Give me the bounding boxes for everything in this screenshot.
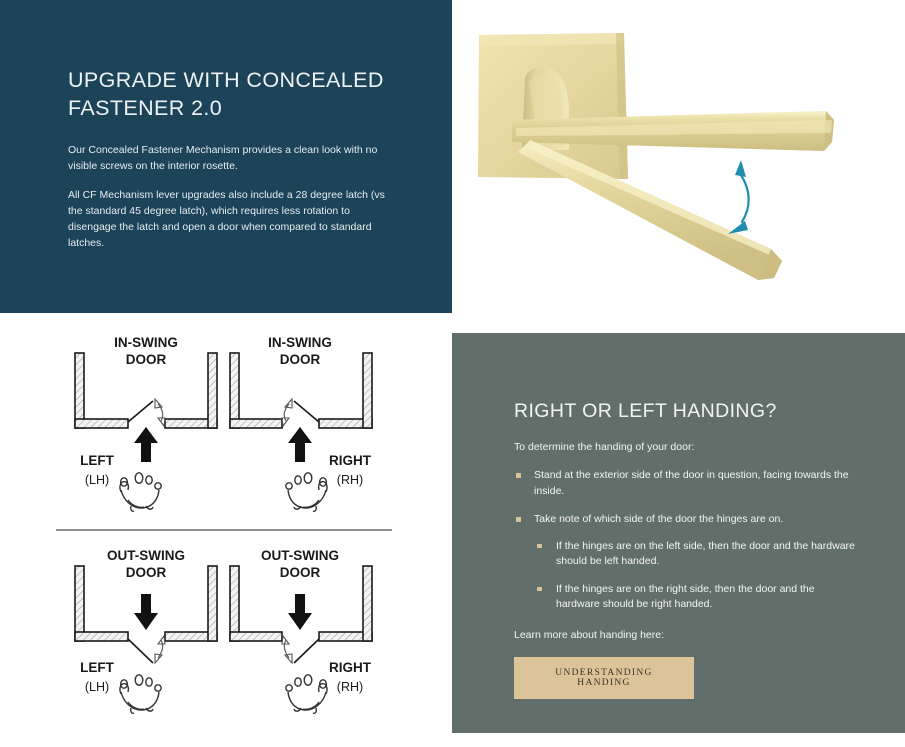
learn-more-text: Learn more about handing here:	[514, 628, 859, 643]
outswing-right-label: RIGHT	[329, 660, 372, 675]
list-item: If the hinges are on the left side, then…	[534, 539, 859, 570]
page-root: UPGRADE WITH CONCEALED FASTENER 2.0 Our …	[0, 0, 905, 747]
bullet-square-icon	[516, 473, 521, 478]
outswing-heading-right-1: OUT-SWING	[261, 548, 339, 563]
bullet-square-icon	[516, 517, 521, 522]
inswing-right-label: RIGHT	[329, 453, 372, 468]
angle-arrow-head-up	[735, 160, 746, 177]
approach-arrow-down-icon	[288, 594, 312, 630]
promo-paragraph-1: Our Concealed Fastener Mechanism provide…	[68, 142, 388, 174]
right-hand-icon	[286, 675, 327, 713]
promo-panel: UPGRADE WITH CONCEALED FASTENER 2.0 Our …	[0, 0, 452, 313]
promo-title: UPGRADE WITH CONCEALED FASTENER 2.0	[68, 66, 388, 122]
bullet-square-icon	[537, 587, 542, 592]
diagram-inswing-right: RIGHT (RH)	[230, 353, 372, 511]
handing-bullet-list: Stand at the exterior side of the door i…	[514, 468, 859, 613]
handing-diagram: LEFT (LH)	[0, 320, 452, 747]
promo-paragraph-2: All CF Mechanism lever upgrades also inc…	[68, 187, 388, 251]
approach-arrow-up-icon	[288, 427, 312, 462]
handing-title: RIGHT OR LEFT HANDING?	[514, 398, 859, 424]
handing-sub-bullet-1-text: If the hinges are on the left side, then…	[556, 539, 859, 570]
outswing-heading-right-2: DOOR	[280, 565, 321, 580]
bullet-square-icon	[537, 544, 542, 549]
diagram-inswing-left: LEFT (LH)	[75, 353, 217, 511]
handing-sub-bullet-list: If the hinges are on the left side, then…	[534, 539, 859, 613]
understanding-handing-button[interactable]: Understanding Handing	[514, 657, 694, 699]
inswing-heading-right-2: DOOR	[280, 352, 321, 367]
angle-arrow-icon	[741, 175, 749, 222]
promo-content: UPGRADE WITH CONCEALED FASTENER 2.0 Our …	[68, 66, 388, 251]
outswing-heading-left-2: DOOR	[126, 565, 167, 580]
handing-lead: To determine the handing of your door:	[514, 440, 859, 455]
inswing-right-sub: (RH)	[337, 473, 363, 487]
approach-arrow-down-icon	[134, 594, 158, 630]
promo-body: Our Concealed Fastener Mechanism provide…	[68, 142, 388, 251]
list-item: Take note of which side of the door the …	[514, 512, 859, 613]
left-hand-icon	[120, 473, 161, 511]
outswing-left-sub: (LH)	[85, 680, 109, 694]
list-item: If the hinges are on the right side, the…	[534, 582, 859, 613]
inswing-heading-right-1: IN-SWING	[268, 335, 332, 350]
inswing-heading-left-1: IN-SWING	[114, 335, 178, 350]
list-item: Stand at the exterior side of the door i…	[514, 468, 859, 499]
outswing-left-label: LEFT	[80, 660, 114, 675]
diagram-outswing-left: LEFT (LH)	[75, 566, 217, 713]
inswing-left-sub: (LH)	[85, 473, 109, 487]
inswing-heading-left-2: DOOR	[126, 352, 167, 367]
outswing-right-sub: (RH)	[337, 680, 363, 694]
left-hand-icon	[120, 675, 161, 713]
inswing-left-label: LEFT	[80, 453, 114, 468]
diagram-outswing-right: RIGHT (RH)	[230, 566, 372, 713]
handing-content: RIGHT OR LEFT HANDING? To determine the …	[514, 398, 859, 699]
approach-arrow-up-icon	[134, 427, 158, 462]
handing-sub-bullet-2-text: If the hinges are on the right side, the…	[556, 582, 859, 613]
handing-diagram-panel: LEFT (LH)	[0, 320, 452, 747]
handing-info-panel: RIGHT OR LEFT HANDING? To determine the …	[452, 333, 905, 733]
angle-arrow-head-down	[728, 221, 748, 234]
outswing-heading-left-1: OUT-SWING	[107, 548, 185, 563]
door-lever-illustration	[452, 0, 905, 313]
right-hand-icon	[286, 473, 327, 511]
handing-bullet-2-text: Take note of which side of the door the …	[534, 512, 859, 528]
handing-bullet-1-text: Stand at the exterior side of the door i…	[534, 468, 859, 499]
lever-image-panel: 28°	[452, 0, 905, 313]
